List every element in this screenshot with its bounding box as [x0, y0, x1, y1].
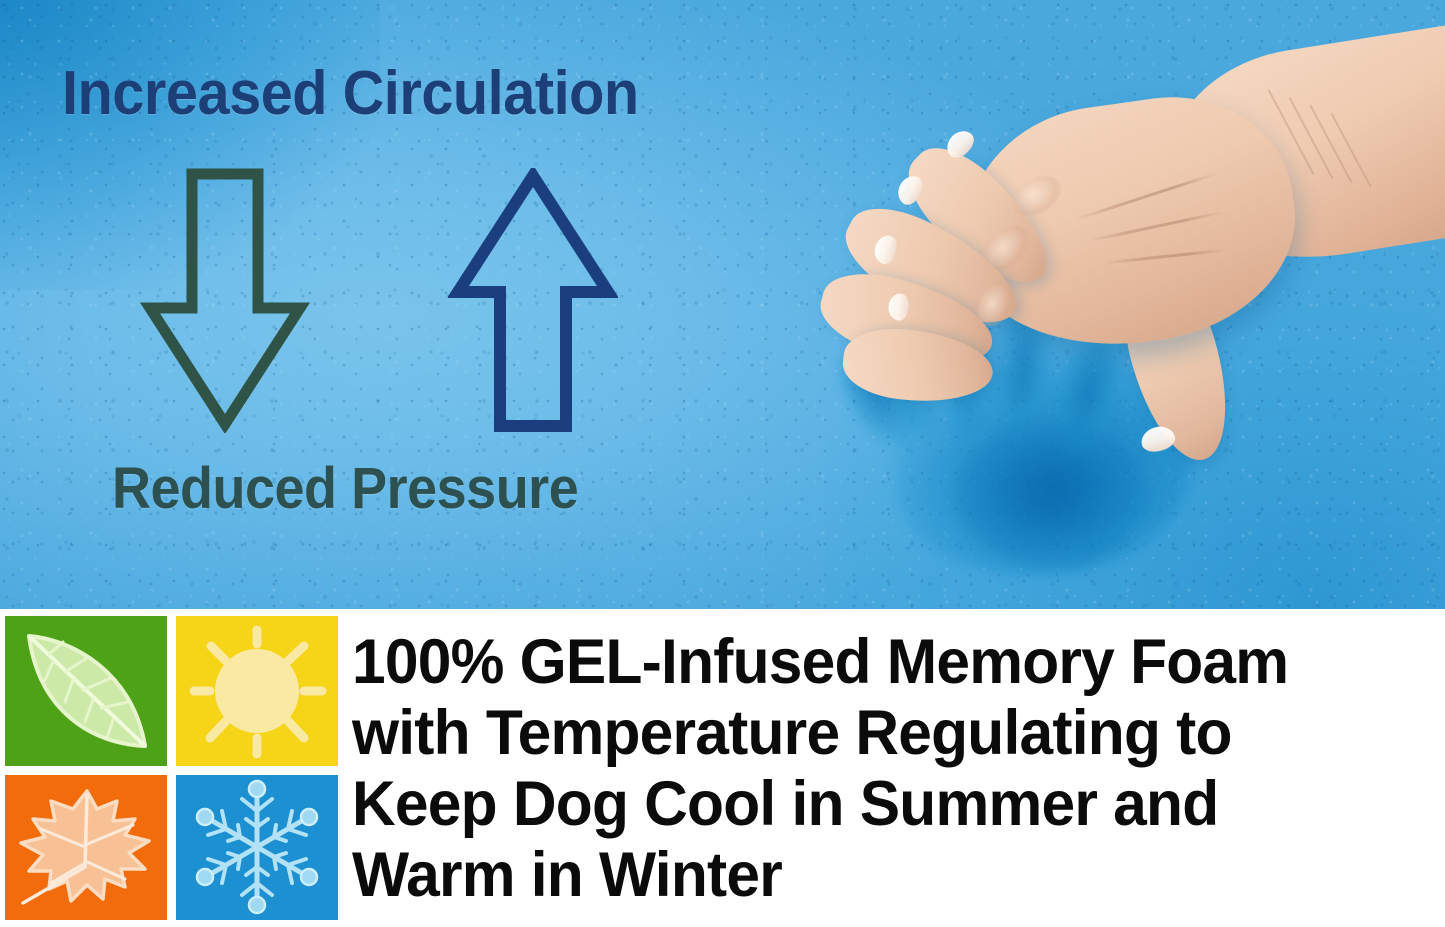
- sun-icon: [176, 616, 338, 766]
- season-tile-winter: [176, 775, 338, 920]
- gel-foam-photo: Increased Circulation Reduced Pressure: [0, 0, 1445, 609]
- up-arrow-icon: [448, 168, 618, 433]
- maple-leaf-icon: [5, 775, 167, 920]
- season-tile-autumn: [5, 775, 167, 920]
- human-hand: [835, 55, 1445, 475]
- copy-line-1: 100% GEL-Infused Memory Foam: [352, 627, 1398, 698]
- leaf-icon: [5, 616, 167, 766]
- four-season-icon-grid: [5, 616, 338, 919]
- product-feature-poster: Increased Circulation Reduced Pressure: [0, 0, 1445, 927]
- marketing-copy-block: 100% GEL-Infused Memory Foam with Temper…: [352, 627, 1398, 911]
- season-tile-summer: [176, 616, 338, 766]
- reduced-pressure-caption: Reduced Pressure: [112, 455, 578, 522]
- copy-line-3: Keep Dog Cool in Summer and: [352, 769, 1398, 840]
- snowflake-icon: [176, 775, 338, 920]
- season-tile-spring: [5, 616, 167, 766]
- copy-line-2: with Temperature Regulating to: [352, 698, 1398, 769]
- feature-band: 100% GEL-Infused Memory Foam with Temper…: [0, 609, 1445, 927]
- copy-line-4: Warm in Winter: [352, 840, 1398, 911]
- down-arrow-icon: [140, 168, 310, 433]
- increased-circulation-caption: Increased Circulation: [62, 58, 639, 129]
